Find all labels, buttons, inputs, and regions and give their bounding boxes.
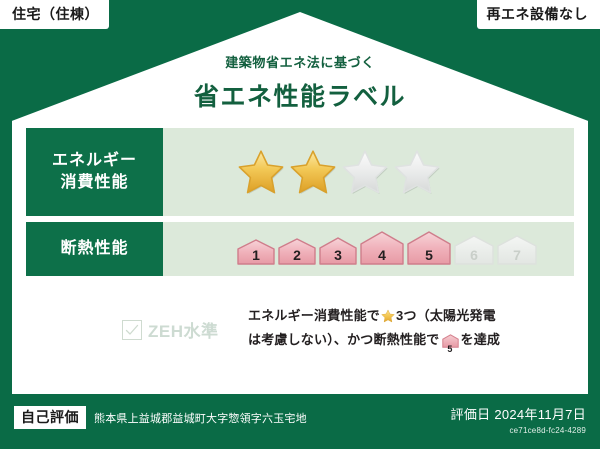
- self-evaluation-badge: 自己評価: [14, 406, 86, 429]
- zeh-section: ZEH水準 エネルギー消費性能で 3つ（太陽光発電: [26, 305, 574, 355]
- evaluation-date: 評価日 2024年11月7日: [451, 404, 586, 423]
- zeh-description-line1: エネルギー消費性能で 3つ（太陽光発電: [248, 305, 500, 329]
- footer-right: 評価日 2024年11月7日 ce71ce8d-fc24-4289: [451, 404, 586, 435]
- house-empty-icon: 6: [454, 235, 494, 265]
- zeh-checkbox-icon: [122, 320, 142, 340]
- zeh-description-line2: は考慮しない）、かつ断熱性能で 5を達成: [248, 329, 500, 354]
- label-subtitle: 建築物省エネ法に基づく: [0, 52, 600, 71]
- badge-building-type: 住宅（住棟）: [0, 0, 109, 29]
- row-energy-value: [163, 128, 574, 216]
- evaluation-id: ce71ce8d-fc24-4289: [451, 426, 586, 435]
- house-filled-icon: 4: [360, 231, 404, 265]
- inline-star-icon: [381, 308, 395, 329]
- zeh-desc-text-a: エネルギー消費性能で: [248, 308, 380, 323]
- zeh-label: ZEH水準: [148, 317, 219, 342]
- house-filled-icon: 1: [237, 239, 275, 265]
- star-empty-icon: [341, 148, 389, 196]
- star-filled-icon: [289, 148, 337, 196]
- energy-performance-label: 住宅（住棟） 再エネ設備なし 建築物省エネ法に基づく 省エネ性能ラベル エネルギ…: [0, 0, 600, 449]
- row-energy-performance: エネルギー 消費性能: [26, 128, 574, 216]
- zeh-description: エネルギー消費性能で 3つ（太陽光発電 は考慮しない）、かつ断熱性能で: [248, 305, 500, 355]
- house-filled-icon: 3: [319, 237, 357, 265]
- star-empty-icon: [393, 148, 441, 196]
- star-rating: [237, 148, 441, 196]
- house-filled-icon: 5: [407, 231, 451, 265]
- zeh-desc-text-b: 3つ（太陽光発電: [396, 308, 496, 323]
- inline-house-badge-icon: 5: [442, 333, 459, 354]
- inline-house-badge-number: 5: [442, 345, 459, 354]
- row-energy-label-line1: エネルギー: [52, 150, 137, 172]
- footer-left: 自己評価 熊本県上益城郡益城町大字惣領字六玉宅地: [14, 406, 307, 429]
- page-title: 省エネ性能ラベル: [0, 77, 600, 113]
- house-empty-icon: 7: [497, 235, 537, 265]
- star-filled-icon: [237, 148, 285, 196]
- rating-rows: エネルギー 消費性能 断熱性能 1234567: [26, 128, 574, 282]
- footer: 自己評価 熊本県上益城郡益城町大字惣領字六玉宅地 評価日 2024年11月7日 …: [0, 394, 600, 449]
- title-block: 建築物省エネ法に基づく 省エネ性能ラベル: [0, 52, 600, 113]
- house-rating: 1234567: [237, 231, 537, 267]
- row-energy-label: エネルギー 消費性能: [26, 128, 163, 216]
- property-address: 熊本県上益城郡益城町大字惣領字六玉宅地: [94, 410, 307, 426]
- zeh-desc-text-c: は考慮しない）、かつ断熱性能で: [248, 332, 440, 347]
- zeh-desc-text-d: を達成: [461, 332, 501, 347]
- row-insulation-value: 1234567: [163, 222, 574, 276]
- zeh-mark: ZEH水準: [26, 317, 230, 342]
- row-energy-label-line2: 消費性能: [60, 172, 128, 194]
- row-insulation-performance: 断熱性能 1234567: [26, 222, 574, 276]
- house-filled-icon: 2: [278, 238, 316, 265]
- badge-renewable-energy: 再エネ設備なし: [477, 0, 600, 29]
- row-insulation-label-line1: 断熱性能: [60, 238, 128, 260]
- row-insulation-label: 断熱性能: [26, 222, 163, 276]
